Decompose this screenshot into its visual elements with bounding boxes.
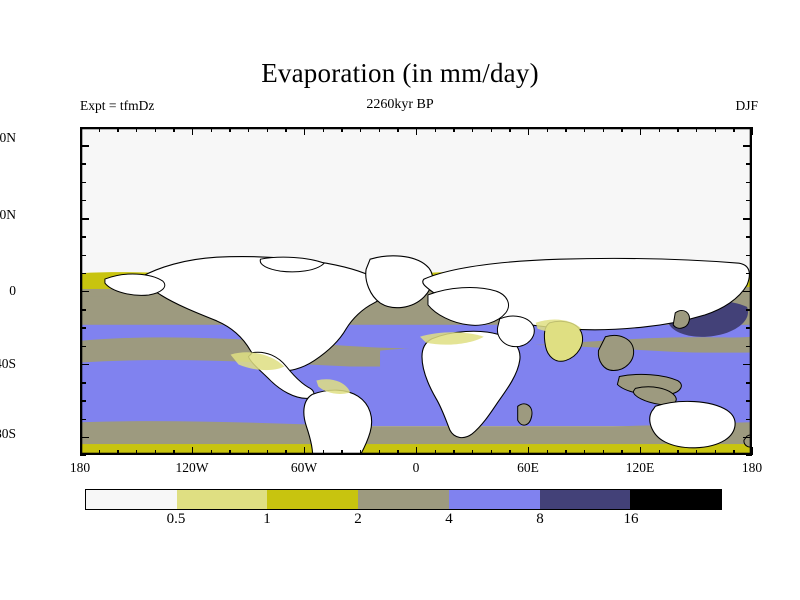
x-axis-tick (211, 127, 212, 132)
y-axis-tick (746, 382, 752, 383)
y-axis-tick (746, 200, 752, 201)
x-axis-tick (379, 127, 380, 132)
x-axis-tick (603, 127, 604, 132)
y-axis-tick (743, 145, 752, 146)
x-tick-label-180e: 180 (717, 460, 787, 476)
map-plot-area (80, 127, 752, 455)
y-axis-tick (746, 309, 752, 310)
y-axis-tick (746, 236, 752, 237)
x-axis-tick (285, 127, 286, 132)
y-axis-tick (743, 291, 752, 292)
period-label: 2260kyr BP (0, 97, 800, 113)
x-axis-tick (117, 127, 118, 132)
colorbar-band-1 (177, 490, 268, 509)
y-axis-tick (746, 273, 752, 274)
x-axis-tick (491, 127, 492, 132)
x-axis-tick (360, 127, 361, 132)
x-axis-tick (323, 450, 324, 455)
x-axis-tick (304, 447, 305, 455)
x-axis-tick (547, 450, 548, 455)
y-axis-tick (80, 400, 86, 401)
y-axis-tick (80, 437, 89, 438)
x-tick-label-120w: 120W (157, 460, 227, 476)
x-axis-tick (640, 447, 641, 455)
x-axis-tick (173, 450, 174, 455)
colorbar-tick-16: 16 (606, 511, 656, 528)
x-axis-tick (621, 450, 622, 455)
y-tick-label-0: 0 (0, 283, 16, 299)
x-axis-tick (733, 450, 734, 455)
x-axis-tick (397, 127, 398, 132)
x-axis-tick (211, 450, 212, 455)
y-tick-label-80n: 80N (0, 130, 16, 146)
x-axis-tick (416, 447, 417, 455)
colorbar-tick-1: 1 (242, 511, 292, 528)
colorbar-band-5 (540, 490, 631, 509)
x-axis-tick (565, 450, 566, 455)
colorbar-band-4 (449, 490, 540, 509)
y-axis-tick (80, 382, 86, 383)
x-axis-tick (136, 450, 137, 455)
y-axis-tick (80, 291, 89, 292)
x-axis-tick (99, 450, 100, 455)
y-axis-tick (743, 364, 752, 365)
x-axis-tick (547, 127, 548, 132)
x-axis-tick (136, 127, 137, 132)
x-axis-tick (435, 450, 436, 455)
y-axis-tick (746, 127, 752, 128)
y-axis-tick (80, 163, 86, 164)
colorbar (85, 489, 722, 510)
colorbar-band-3 (358, 490, 449, 509)
y-tick-label-40s: 40S (0, 356, 16, 372)
y-axis-tick (746, 163, 752, 164)
y-axis-tick (80, 145, 89, 146)
x-axis-tick (715, 450, 716, 455)
x-axis-tick (752, 127, 753, 135)
x-axis-tick (528, 447, 529, 455)
x-axis-tick (341, 450, 342, 455)
colorbar-band-2 (267, 490, 358, 509)
x-axis-tick (621, 127, 622, 132)
y-axis-tick (80, 255, 86, 256)
colorbar-tick-2: 2 (333, 511, 383, 528)
y-axis-tick (743, 218, 752, 219)
x-axis-tick (472, 450, 473, 455)
x-axis-tick (267, 450, 268, 455)
y-axis-tick (80, 419, 86, 420)
y-axis-tick (80, 273, 86, 274)
x-axis-tick (752, 447, 753, 455)
y-axis-tick (80, 200, 86, 201)
x-axis-tick (267, 127, 268, 132)
y-axis-tick (80, 327, 86, 328)
x-axis-tick (565, 127, 566, 132)
x-axis-tick (453, 450, 454, 455)
x-axis-tick (229, 127, 230, 132)
x-axis-tick (341, 127, 342, 132)
y-tick-label-40n: 40N (0, 207, 16, 223)
x-axis-tick (248, 450, 249, 455)
x-axis-tick (603, 450, 604, 455)
x-axis-tick (360, 450, 361, 455)
y-axis-tick (80, 127, 86, 128)
y-axis-tick (80, 236, 86, 237)
x-axis-tick (379, 450, 380, 455)
colorbar-tick-0.5: 0.5 (151, 511, 201, 528)
y-axis-tick (746, 419, 752, 420)
colorbar-band-6 (630, 490, 721, 509)
x-axis-tick (584, 127, 585, 132)
y-axis-tick (80, 182, 86, 183)
colorbar-tick-4: 4 (424, 511, 474, 528)
x-axis-tick (155, 127, 156, 132)
y-axis-tick (80, 346, 86, 347)
x-axis-tick (733, 127, 734, 132)
y-axis-tick (80, 455, 86, 456)
y-axis-tick (743, 437, 752, 438)
x-axis-tick (285, 450, 286, 455)
y-axis-tick (80, 218, 89, 219)
x-axis-tick (192, 447, 193, 455)
x-axis-tick (248, 127, 249, 132)
y-axis-tick (80, 364, 89, 365)
y-axis-tick (746, 400, 752, 401)
x-axis-tick (715, 127, 716, 132)
y-axis-tick (746, 182, 752, 183)
y-axis-tick (746, 455, 752, 456)
x-axis-tick (696, 450, 697, 455)
x-axis-tick (173, 127, 174, 132)
y-axis-tick (746, 327, 752, 328)
x-axis-tick (659, 127, 660, 132)
x-axis-tick (677, 127, 678, 132)
x-axis-tick (677, 450, 678, 455)
x-axis-tick (453, 127, 454, 132)
figure-canvas: Evaporation (in mm/day) Expt = tfmDz 226… (0, 0, 800, 600)
x-axis-tick (509, 450, 510, 455)
x-axis-tick (416, 127, 417, 135)
x-axis-tick (584, 450, 585, 455)
x-tick-label-120e: 120E (605, 460, 675, 476)
x-axis-tick (80, 447, 81, 455)
x-axis-tick (435, 127, 436, 132)
chart-title: Evaporation (in mm/day) (0, 58, 800, 89)
x-axis-tick (323, 127, 324, 132)
x-axis-tick (509, 127, 510, 132)
y-axis-tick (80, 309, 86, 310)
x-axis-tick (472, 127, 473, 132)
x-tick-label-60e: 60E (493, 460, 563, 476)
x-axis-tick (192, 127, 193, 135)
y-axis-tick (746, 346, 752, 347)
x-axis-tick (659, 450, 660, 455)
x-axis-tick (696, 127, 697, 132)
x-axis-tick (304, 127, 305, 135)
x-axis-tick (397, 450, 398, 455)
colorbar-tick-8: 8 (515, 511, 565, 528)
y-axis-tick (746, 255, 752, 256)
colorbar-band-0 (86, 490, 177, 509)
y-tick-label-80s: 80S (0, 426, 16, 442)
x-axis-tick (229, 450, 230, 455)
evaporation-map (81, 128, 751, 454)
x-tick-label-0: 0 (381, 460, 451, 476)
x-axis-tick (117, 450, 118, 455)
x-axis-tick (155, 450, 156, 455)
x-axis-tick (491, 450, 492, 455)
x-axis-tick (99, 127, 100, 132)
season-label: DJF (735, 98, 758, 114)
x-axis-tick (640, 127, 641, 135)
x-tick-label-60w: 60W (269, 460, 339, 476)
x-axis-tick (528, 127, 529, 135)
x-tick-label-180w: 180 (45, 460, 115, 476)
